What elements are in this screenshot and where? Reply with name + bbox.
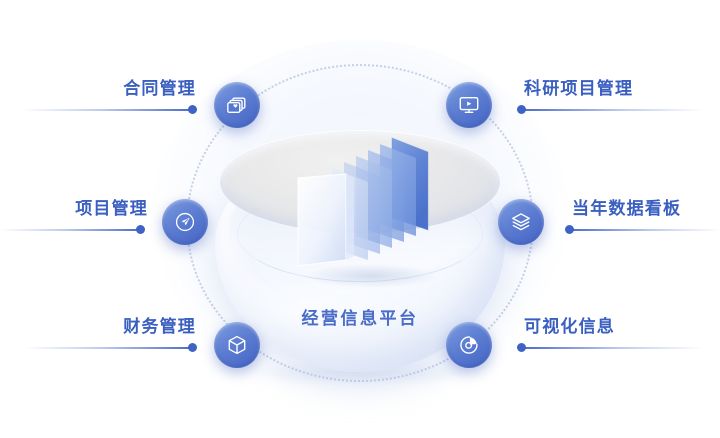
platform-center-label: 经营信息平台 — [0, 304, 720, 329]
connector-dot — [517, 343, 526, 352]
connector-dot — [565, 225, 574, 234]
cube-3d-icon — [226, 334, 248, 356]
node-project-management[interactable] — [162, 199, 208, 245]
node-research-project[interactable] — [446, 82, 492, 128]
connector-research-project — [518, 105, 704, 114]
connector-visualization-info — [518, 343, 704, 352]
paper-plane-icon — [174, 211, 196, 233]
cards-heart-icon — [226, 94, 248, 116]
label-research-project: 科研项目管理 — [524, 80, 710, 97]
connector-rule — [24, 347, 196, 349]
infographic-canvas: 合同管理 科研项目管理 项目管理 当年数据看板 财务管理 可视化信息 经营信息平… — [0, 0, 720, 438]
stacked-planes-graphic — [268, 126, 456, 296]
pie-chart-icon — [458, 334, 480, 356]
node-contract[interactable] — [214, 82, 260, 128]
connector-rule — [566, 229, 720, 231]
layers-stack-icon — [510, 211, 532, 233]
monitor-play-icon — [458, 94, 480, 116]
label-annual-dashboard: 当年数据看板 — [572, 200, 718, 217]
label-project-management: 项目管理 — [0, 200, 148, 217]
connector-rule — [518, 347, 704, 349]
connector-dot — [517, 105, 526, 114]
connector-rule — [518, 109, 704, 111]
connector-rule — [22, 109, 196, 111]
node-annual-dashboard[interactable] — [498, 199, 544, 245]
connector-rule — [0, 229, 144, 231]
connector-dot — [188, 343, 197, 352]
connector-dot — [188, 105, 197, 114]
connector-finance-management — [24, 343, 196, 352]
connector-annual-dashboard — [566, 225, 720, 234]
connector-dot — [136, 225, 145, 234]
connector-contract — [22, 105, 196, 114]
connector-project-management — [0, 225, 144, 234]
label-contract: 合同管理 — [20, 80, 196, 97]
